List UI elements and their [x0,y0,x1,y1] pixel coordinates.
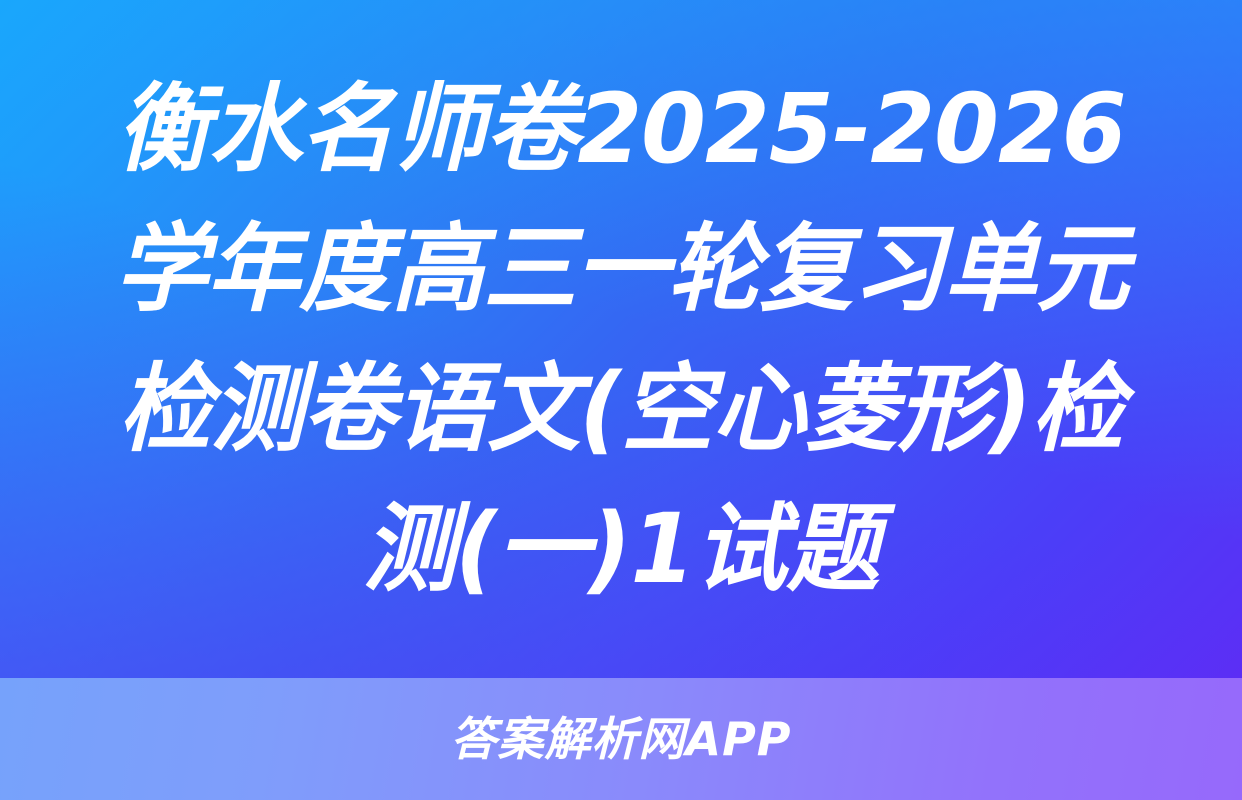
title-line-1: 衡水名师卷2025-2026 [116,59,1125,199]
footer-brand-bar: 答案解析网APP [0,678,1242,800]
title-card: 衡水名师卷2025-2026 学年度高三一轮复习单元 检测卷语文(空心菱形)检 … [0,0,1242,800]
page-title: 衡水名师卷2025-2026 学年度高三一轮复习单元 检测卷语文(空心菱形)检 … [0,0,1242,678]
title-line-2: 学年度高三一轮复习单元 [114,199,1128,339]
title-line-4: 测(一)1试题 [363,479,879,619]
brand-label: 答案解析网APP [450,716,791,762]
title-line-3: 检测卷语文(空心菱形)检 [119,339,1124,479]
